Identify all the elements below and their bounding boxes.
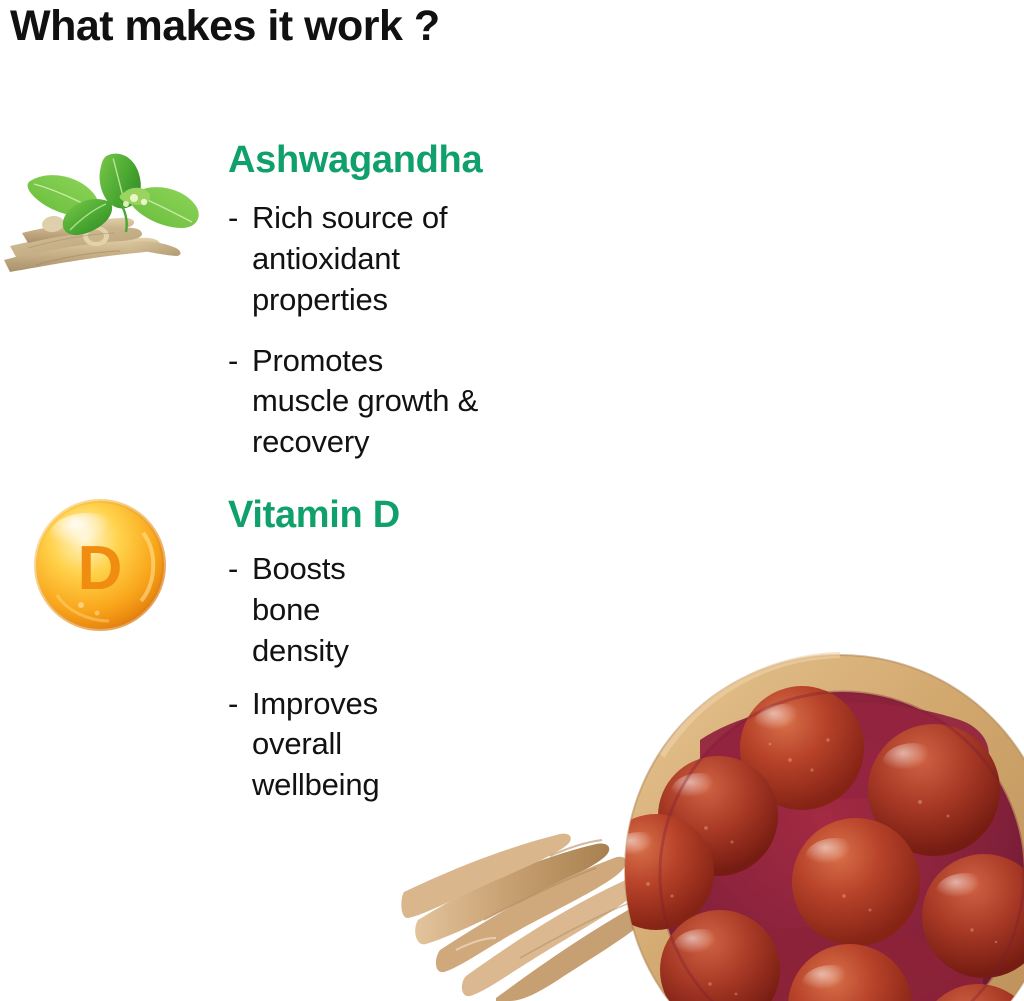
bullet-dash-icon: - <box>228 549 252 590</box>
list-item: - Promotes muscle growth & recovery <box>228 341 482 464</box>
list-item: - Improves overall wellbeing <box>228 684 400 807</box>
ashwagandha-benefit-list: - Rich source of antioxidant properties … <box>228 198 482 463</box>
product-photo-gummies-bowl <box>400 620 1024 1001</box>
ashwagandha-text-group: Ashwagandha - Rich source of antioxidant… <box>228 140 482 463</box>
vitamin-d-benefit-list: - Boosts bone density - Improves overall… <box>228 549 400 806</box>
ashwagandha-root-leaf-icon <box>0 138 205 293</box>
infographic-page: What makes it work ? <box>0 0 1024 1001</box>
page-title: What makes it work ? <box>10 2 440 51</box>
bullet-text: Rich source of antioxidant properties <box>252 198 482 321</box>
bullet-text: Improves overall wellbeing <box>252 684 400 807</box>
vitamin-d-text-group: Vitamin D - Boosts bone density - Improv… <box>228 495 400 806</box>
ingredient-name-vitamin-d: Vitamin D <box>228 495 400 537</box>
capsule-letter: D <box>78 534 123 603</box>
bullet-dash-icon: - <box>228 198 252 239</box>
bullet-dash-icon: - <box>228 684 252 725</box>
bullet-text: Promotes muscle growth & recovery <box>252 341 482 464</box>
list-item: - Rich source of antioxidant properties <box>228 198 482 321</box>
ingredient-name-ashwagandha: Ashwagandha <box>228 140 482 182</box>
bullet-text: Boosts bone density <box>252 549 400 672</box>
list-item: - Boosts bone density <box>228 549 400 672</box>
bullet-dash-icon: - <box>228 341 252 382</box>
vitamin-d-capsule-icon: D <box>31 497 169 633</box>
